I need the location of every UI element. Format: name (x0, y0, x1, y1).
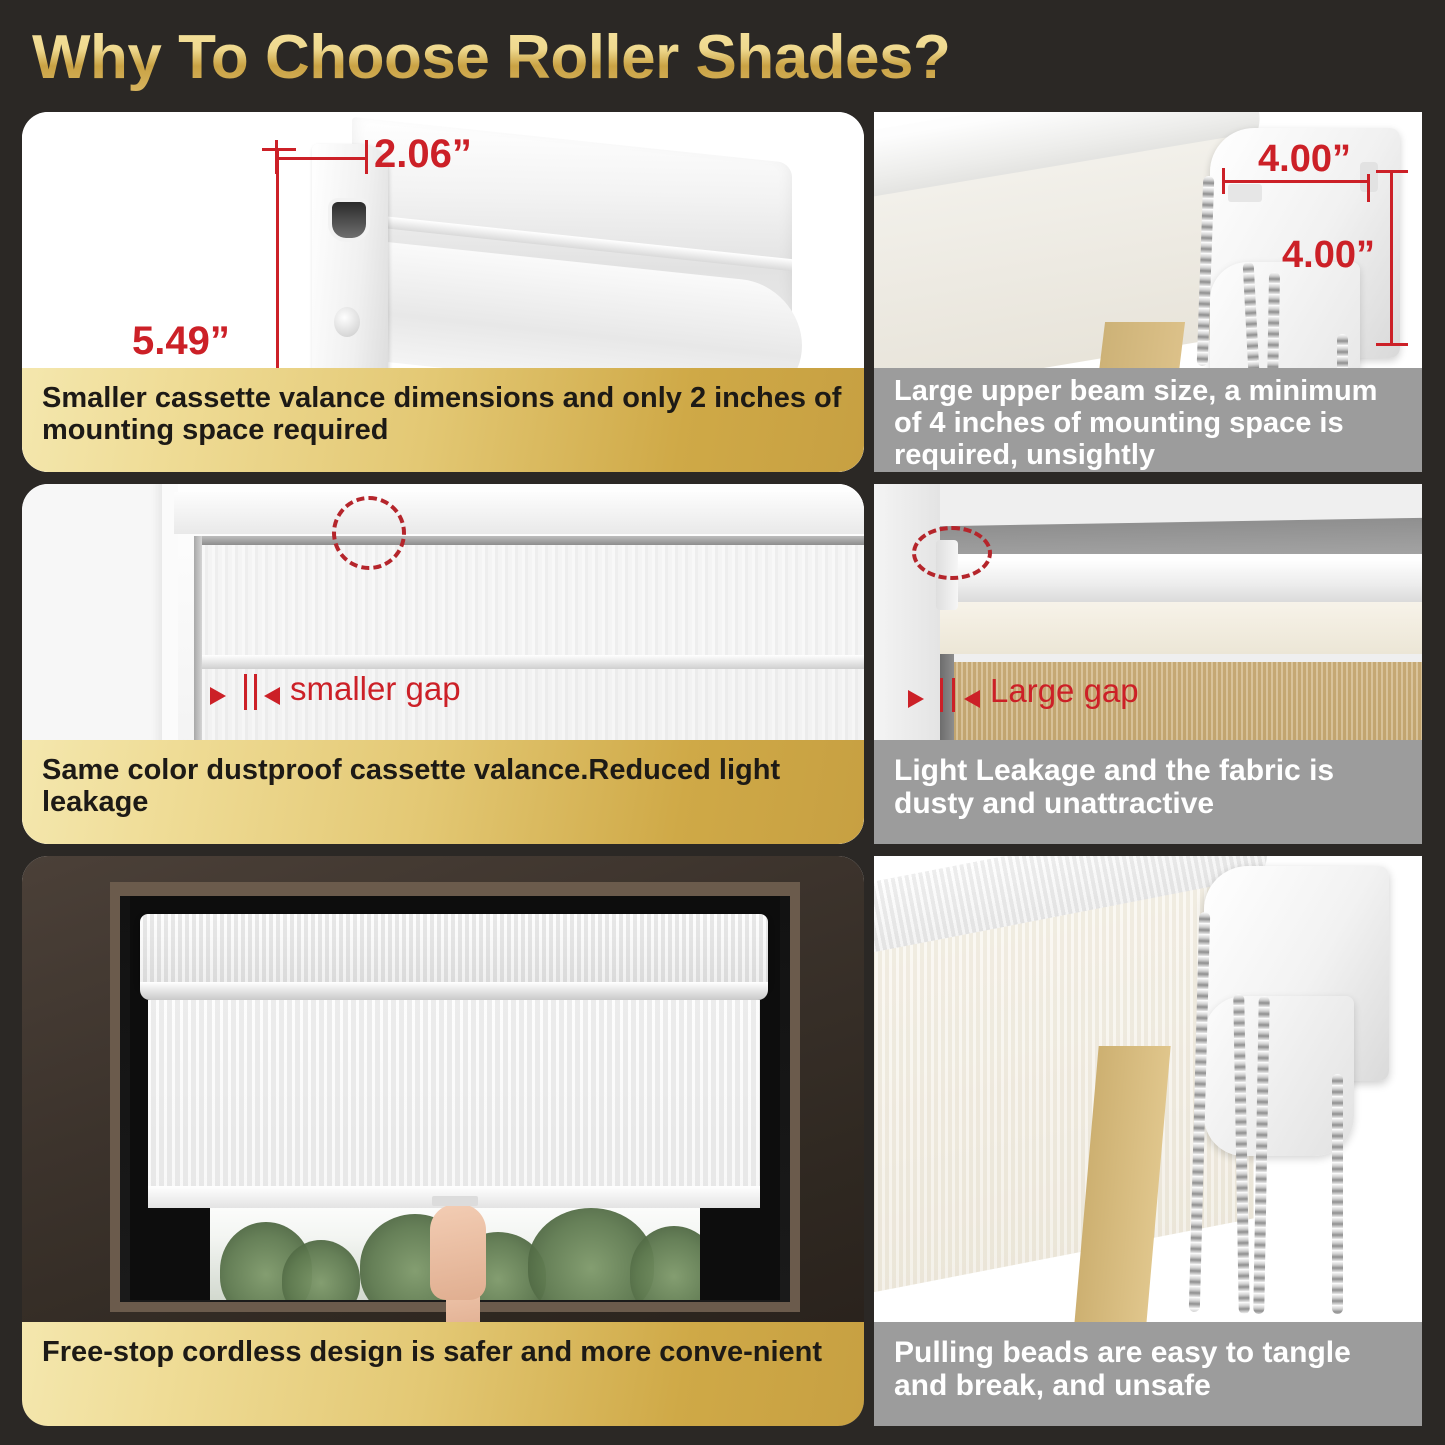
panel-pulling-beads: Pulling beads are easy to tangle and bre… (874, 856, 1422, 1426)
cassette-screw (334, 307, 360, 337)
gap-marker-1 (244, 674, 247, 710)
gap-arrow-right (264, 687, 280, 705)
panel-cassette-dimensions: 2.06” 5.49” Smaller cassette valance dim… (22, 112, 864, 472)
cassette-end-cap (312, 144, 388, 406)
large-gap-label: Large gap (990, 672, 1139, 710)
panel-5-caption: Free-stop cordless design is safer and m… (22, 1322, 864, 1426)
width-dim-line (275, 157, 367, 160)
height-dim-cap-top (262, 148, 296, 151)
header: Why To Choose Roller Shades? (0, 0, 1445, 110)
bead-chain-4 (1332, 1074, 1343, 1314)
cream-band (932, 602, 1422, 654)
panel-large-gap: Large gap Light Leakage and the fabric i… (874, 484, 1422, 844)
gap-marker-2 (952, 678, 955, 712)
valance-lip (140, 982, 768, 1000)
shade-middle-bar (200, 655, 864, 669)
shade-upper-section (202, 545, 864, 655)
roller-shade-fabric (148, 1000, 760, 1206)
panel-1-caption: Smaller cassette valance dimensions and … (22, 368, 864, 472)
panel-3-caption: Same color dustproof cassette valance.Re… (22, 740, 864, 844)
page-title: Why To Choose Roller Shades? (32, 22, 950, 93)
panel-cordless-design: Free-stop cordless design is safer and m… (22, 856, 864, 1426)
panel-2-caption: Large upper beam size, a minimum of 4 in… (874, 368, 1422, 472)
valance-rail (200, 536, 864, 545)
gap-marker-1 (940, 678, 943, 712)
width-dim-tick-right (365, 140, 368, 174)
panel-4-caption: Light Leakage and the fabric is dusty an… (874, 740, 1422, 844)
gap-highlight-circle (912, 526, 992, 580)
panel-6-caption: Pulling beads are easy to tangle and bre… (874, 1322, 1422, 1426)
beam-height-cap-bottom (1376, 343, 1408, 346)
height-dimension-label: 5.49” (132, 319, 230, 364)
beam-width-label: 4.00” (1258, 138, 1351, 181)
pull-tab (432, 1196, 478, 1206)
beam-height-dim-line (1390, 170, 1393, 346)
cassette-valance (140, 914, 768, 986)
window-casing (174, 492, 864, 534)
beam-width-tick-left (1222, 168, 1225, 194)
cassette-slot (332, 202, 366, 238)
gap-arrow-right (964, 690, 980, 708)
beam-width-tick-right (1367, 174, 1370, 202)
roller-tube (932, 554, 1422, 606)
gap-arrow-left (210, 687, 226, 705)
panel-smaller-gap: smaller gap Same color dustproof cassett… (22, 484, 864, 844)
beam-height-label: 4.00” (1282, 234, 1375, 277)
gap-arrow-left (908, 690, 924, 708)
width-dimension-label: 2.06” (374, 132, 472, 177)
beam-height-cap-top (1376, 170, 1408, 173)
person-hand (430, 1204, 486, 1300)
gap-highlight-circle (332, 496, 406, 570)
gap-marker-2 (254, 674, 257, 710)
panel-large-beam: 4.00” 4.00” Large upper beam size, a min… (874, 112, 1422, 472)
smaller-gap-label: smaller gap (290, 670, 461, 708)
